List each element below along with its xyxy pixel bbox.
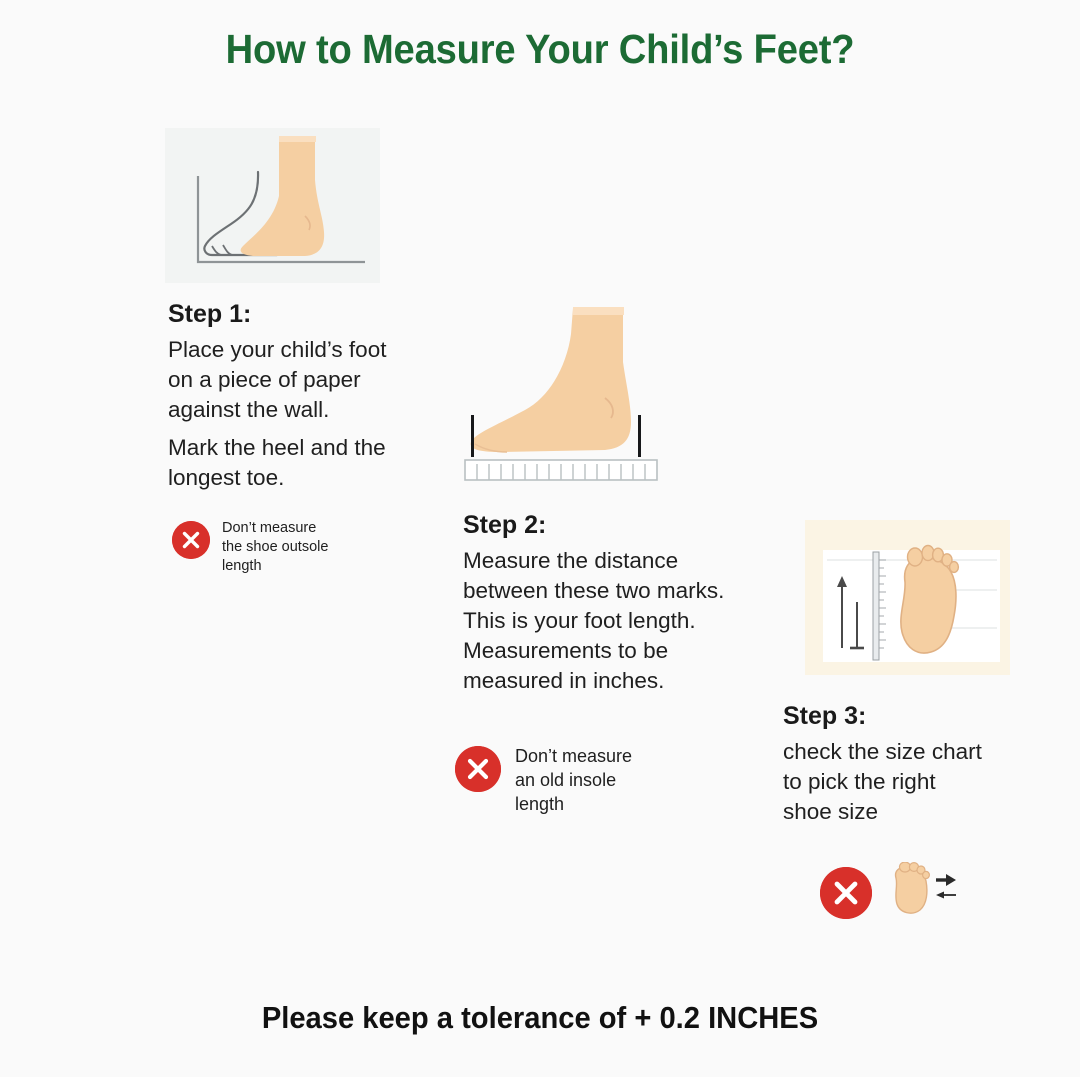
step-1-line-3: against the wall. [168,395,408,425]
leg-cuff [279,136,316,142]
step-2-warning-text: Don’t measure an old insole length [515,744,632,816]
step-2-line-4: Measurements to be [463,636,783,666]
step-1-line-4: Mark the heel and the [168,433,408,463]
step-2-line-5: measured in inches. [463,666,783,696]
tolerance-note: Please keep a tolerance of + 0.2 INCHES [32,1000,1047,1036]
foot-width-arrows-icon [886,862,958,923]
foot-profile-shape [241,137,325,256]
step-1-warning-line-2: the shoe outsole [222,538,328,557]
step-2-body: Measure the distance between these two m… [463,546,783,696]
step-3-illustration [805,520,1010,675]
step-1-line-2: on a piece of paper [168,365,408,395]
foot-profile-shape [471,308,631,452]
leg-cuff [573,307,624,315]
step-1-line-5: longest toe. [168,463,408,493]
step-1-heading: Step 1: [168,300,251,329]
step-2-line-3: This is your foot length. [463,606,783,636]
step-3-line-2: to pick the right [783,767,1023,797]
step-2-line-1: Measure the distance [463,546,783,576]
toe-tick-1 [212,246,221,255]
toe-tick-2 [223,245,232,255]
step-3-line-1: check the size chart [783,737,1023,767]
step-1-line-1: Place your child’s foot [168,335,408,365]
step-2-illustration [455,300,680,482]
step-2-warning: Don’t measure an old insole length [455,744,632,816]
infographic-page: How to Measure Your Child’s Feet? Step 1… [0,0,1080,1077]
step-3-heading: Step 3: [783,702,866,731]
heel-measure-mark [638,415,641,457]
red-cross-circle-icon [455,746,501,792]
step-1-warning-line-3: length [222,557,328,576]
page-title: How to Measure Your Child’s Feet? [38,26,1042,73]
arrow-left [936,892,956,899]
step-1-warning: Don’t measure the shoe outsole length [172,519,328,576]
step-3-warning [820,862,958,923]
step-2-line-2: between these two marks. [463,576,783,606]
step-2-warning-line-2: an old insole [515,768,632,792]
red-cross-circle-icon [820,867,872,919]
step-3-body: check the size chart to pick the right s… [783,737,1023,827]
ruler [465,460,657,480]
step-1-warning-text: Don’t measure the shoe outsole length [222,519,328,576]
step-3-line-3: shoe size [783,797,1023,827]
step-2-warning-line-3: length [515,792,632,816]
toe-measure-mark [471,415,474,457]
step-1-body: Place your child’s foot on a piece of pa… [168,335,408,493]
step-1-illustration [165,128,380,283]
step-2-warning-line-1: Don’t measure [515,744,632,768]
step-2-heading: Step 2: [463,511,546,540]
arrow-right [936,874,956,886]
red-cross-circle-icon [172,521,210,559]
step-1-warning-line-1: Don’t measure [222,519,328,538]
